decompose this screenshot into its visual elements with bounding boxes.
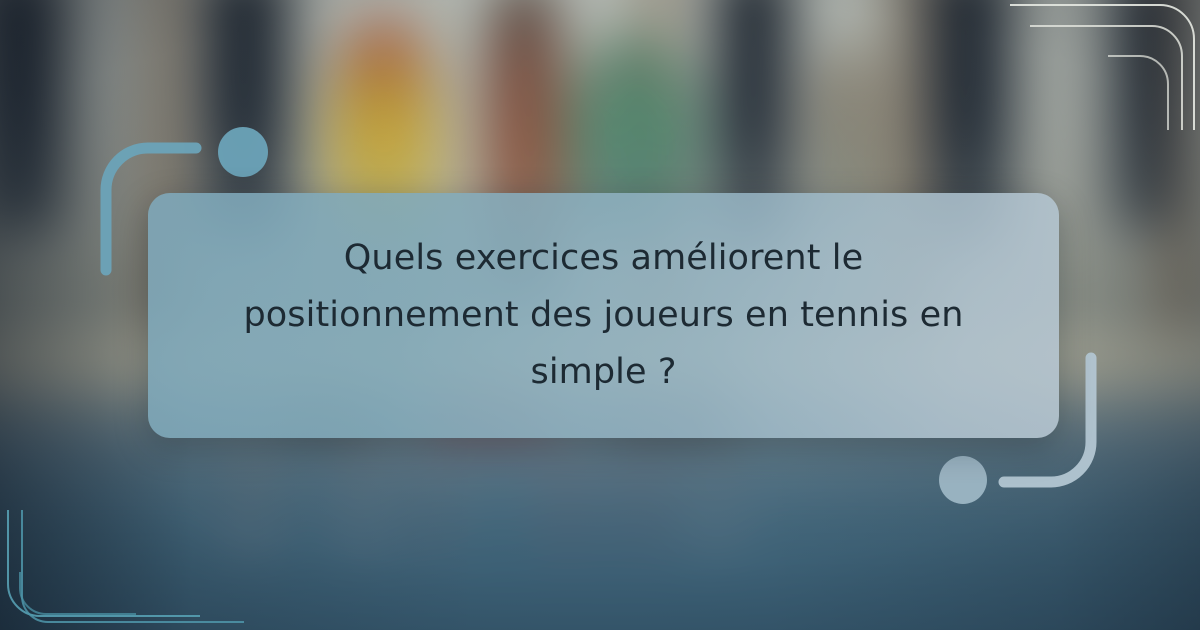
question-card-graphic: Quels exercices améliorent le positionne… [0,0,1200,630]
question-card: Quels exercices améliorent le positionne… [148,193,1059,438]
decorative-dot-top-left [218,127,268,177]
question-text: Quels exercices améliorent le positionne… [204,230,1003,400]
corner-lines-bottom-left [0,510,260,630]
corner-lines-top-right [1000,0,1200,130]
decorative-dot-bottom-right [939,456,987,504]
